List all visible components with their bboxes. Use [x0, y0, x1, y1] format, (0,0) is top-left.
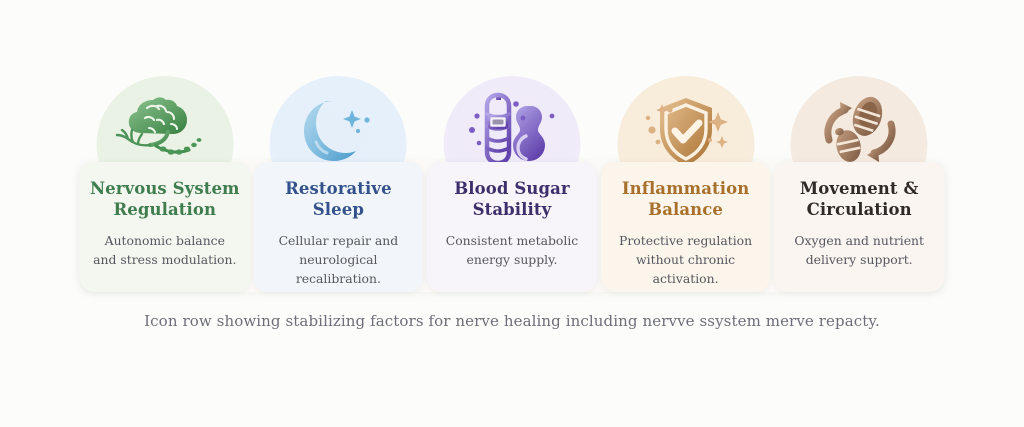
- card-description: Cellular repair andneurological recalibr…: [262, 231, 416, 288]
- card-description: Autonomic balanceand stress modulation.: [88, 231, 242, 269]
- factor-card-restorative-sleep[interactable]: RestorativeSleep Cellular repair andneur…: [252, 60, 426, 292]
- card-body: Nervous SystemRegulation Autonomic balan…: [80, 162, 250, 292]
- factor-card-blood-sugar[interactable]: Blood SugarStability Consistent metaboli…: [425, 60, 599, 292]
- card-description: Oxygen and nutrientdelivery support.: [782, 231, 936, 269]
- factor-card-movement[interactable]: Movement &Circulation Oxygen and nutrien…: [772, 60, 946, 292]
- card-body: RestorativeSleep Cellular repair andneur…: [254, 162, 424, 292]
- card-title: RestorativeSleep: [262, 178, 416, 220]
- infographic-stage: Nervous SystemRegulation Autonomic balan…: [0, 0, 1024, 427]
- card-description: Protective regulationwithout chronic act…: [609, 231, 763, 288]
- card-title: Blood SugarStability: [435, 178, 589, 220]
- card-description: Consistent metabolicenergy supply.: [435, 231, 589, 269]
- factor-card-nervous-system[interactable]: Nervous SystemRegulation Autonomic balan…: [78, 60, 252, 292]
- card-body: Movement &Circulation Oxygen and nutrien…: [774, 162, 944, 292]
- card-body: Blood SugarStability Consistent metaboli…: [427, 162, 597, 292]
- factor-card-row: Nervous SystemRegulation Autonomic balan…: [78, 60, 946, 292]
- figure-caption: Icon row showing stabilizing factors for…: [0, 312, 1024, 330]
- card-body: InflammationBalance Protective regulatio…: [601, 162, 771, 292]
- card-title: InflammationBalance: [609, 178, 763, 220]
- factor-card-inflammation[interactable]: InflammationBalance Protective regulatio…: [599, 60, 773, 292]
- card-title: Movement &Circulation: [782, 178, 936, 220]
- card-title: Nervous SystemRegulation: [88, 178, 242, 220]
